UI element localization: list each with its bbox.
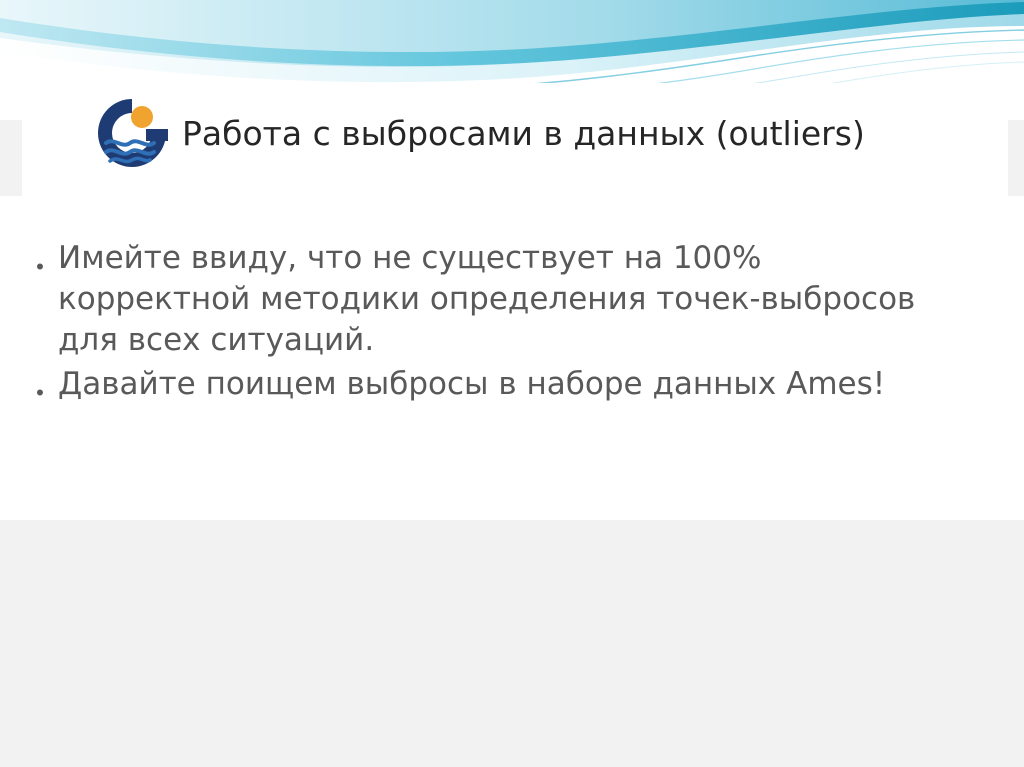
bullet-text: Имейте ввиду, что не существует на 100% … (58, 238, 915, 362)
bullet-list: • Имейте ввиду, что не существует на 100… (22, 238, 1012, 407)
list-item: • Давайте поищем выбросы в наборе данных… (22, 364, 1012, 405)
slide-title-bar: Работа с выбросами в данных (outliers) (78, 83, 948, 183)
slide-body: • Имейте ввиду, что не существует на 100… (0, 196, 1024, 520)
list-item: • Имейте ввиду, что не существует на 100… (22, 238, 1012, 362)
bullet-marker-icon: • (22, 238, 58, 278)
slide-lower-blank-area (0, 520, 1024, 767)
bullet-marker-icon: • (22, 364, 58, 404)
sun-over-waves-logo-icon (90, 91, 174, 175)
page-title: Работа с выбросами в данных (outliers) (182, 114, 865, 153)
bullet-text: Давайте поищем выбросы в наборе данных A… (58, 364, 885, 405)
slide: Работа с выбросами в данных (outliers) •… (0, 0, 1024, 767)
